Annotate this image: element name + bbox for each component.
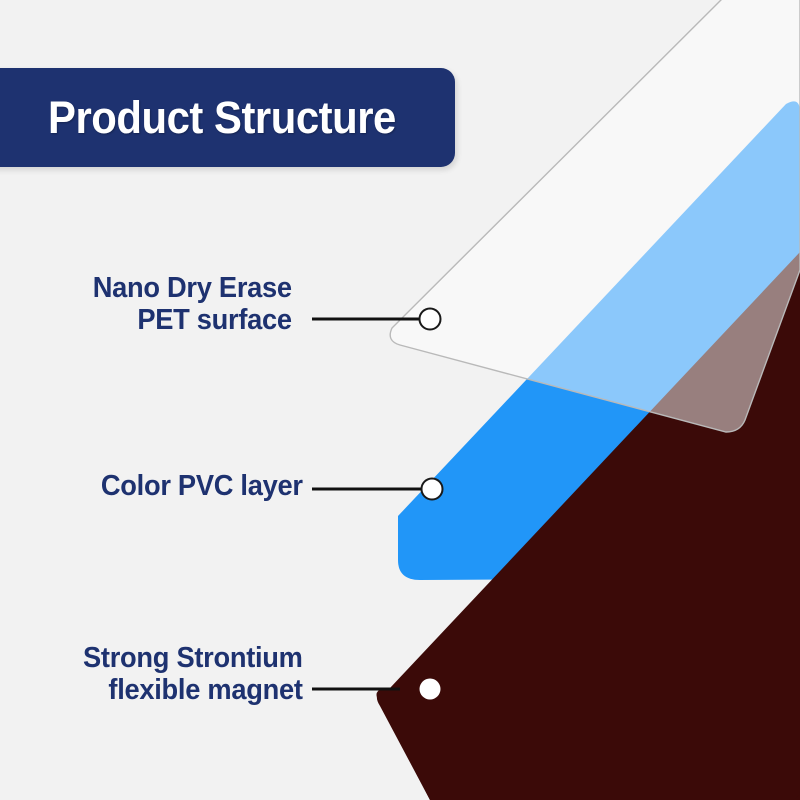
callout-magnet-line-1: Strong Strontium — [83, 642, 303, 674]
callout-pet-line-1: Nano Dry Erase — [93, 272, 292, 304]
marker-pvc — [422, 479, 443, 500]
leader-pet — [312, 309, 441, 330]
callout-magnet-line-2: flexible magnet — [83, 674, 303, 706]
page-title: Product Structure — [48, 95, 396, 140]
marker-pet — [420, 309, 441, 330]
page-title-banner: Product Structure — [0, 68, 455, 167]
product-structure-diagram: Product Structure Nano Dry Erase PET sur… — [0, 0, 800, 800]
callout-label-magnet: Strong Strontium flexible magnet — [69, 642, 303, 707]
pet-layer-shape — [390, 0, 800, 432]
marker-magnet — [420, 679, 441, 700]
callout-label-pet-surface: Nano Dry Erase PET surface — [80, 272, 292, 337]
callout-pvc-line-1: Color PVC layer — [101, 470, 303, 502]
callout-label-pvc-layer: Color PVC layer — [88, 470, 303, 502]
callout-pet-line-2: PET surface — [93, 304, 292, 336]
